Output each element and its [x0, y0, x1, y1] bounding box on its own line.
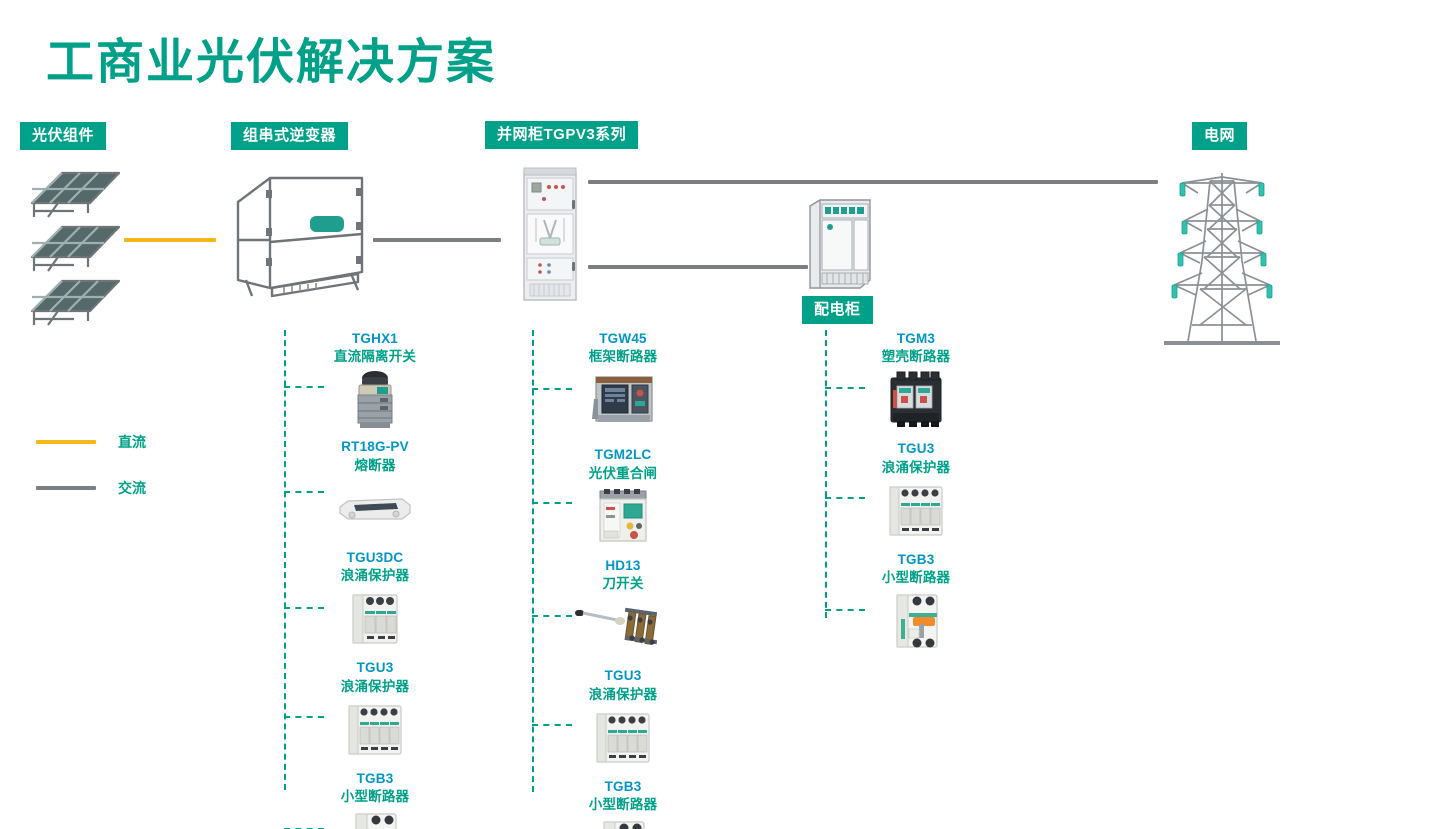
distribution-cabinet-icon — [806, 196, 874, 292]
branch-connector — [825, 387, 865, 389]
badge-pv-modules: 光伏组件 — [20, 122, 106, 150]
dc-isolator-switch-icon — [285, 368, 465, 430]
product-name: 刀开关 — [533, 575, 713, 593]
branch-connector — [284, 491, 324, 493]
surge-protector-dc-icon — [285, 587, 465, 649]
product-name: 熔断器 — [285, 457, 465, 475]
branch-connector — [532, 502, 572, 504]
product-code: TGB3 — [533, 778, 713, 796]
branch-connector — [532, 388, 572, 390]
product-item[interactable]: TGU3 浪涌保护器 — [533, 667, 713, 767]
surge-protector-icon — [533, 706, 713, 768]
product-name: 浪涌保护器 — [533, 686, 713, 704]
product-item[interactable]: TGU3DC 浪涌保护器 — [285, 549, 465, 649]
knife-switch-icon — [533, 595, 713, 657]
product-code: TGW45 — [533, 330, 713, 348]
branch-connector — [825, 609, 865, 611]
branch-connector — [825, 497, 865, 499]
legend-item-ac: 交流 — [36, 478, 146, 498]
legend-swatch-dc — [36, 440, 96, 444]
product-name: 浪涌保护器 — [285, 678, 465, 696]
legend-label-ac: 交流 — [118, 478, 146, 498]
ac-line-inverter-to-grid-cabinet — [373, 238, 501, 242]
product-code: RT18G-PV — [285, 438, 465, 456]
pv-fuse-icon — [285, 477, 465, 539]
product-item[interactable]: TGHX1 直流隔离开关 — [285, 330, 465, 430]
badge-grid-cabinet: 并网柜TGPV3系列 — [485, 121, 638, 149]
branch-connector — [284, 716, 324, 718]
product-code: TGU3 — [285, 659, 465, 677]
surge-protector-icon — [826, 479, 1006, 541]
product-name: 小型断路器 — [826, 569, 1006, 587]
ac-line-grid-cabinet-to-tower — [588, 180, 1158, 184]
pv-recloser-icon — [533, 485, 713, 547]
product-item[interactable]: TGB3 小型断路器 — [533, 778, 713, 829]
ac-line-grid-cabinet-to-distribution — [588, 265, 808, 269]
product-item[interactable]: TGU3 浪涌保护器 — [285, 659, 465, 759]
miniature-circuit-breaker-icon — [533, 816, 713, 829]
product-code: TGB3 — [826, 551, 1006, 569]
product-item[interactable]: RT18G-PV 熔断器 — [285, 438, 465, 538]
product-column-grid-cabinet-side: TGW45 框架断路器 — [523, 330, 703, 829]
branch-connector — [532, 615, 572, 617]
product-code: TGB3 — [285, 770, 465, 788]
product-name: 塑壳断路器 — [826, 348, 1006, 366]
product-name: 浪涌保护器 — [826, 459, 1006, 477]
product-code: TGM2LC — [533, 446, 713, 464]
surge-protector-icon — [285, 698, 465, 760]
product-item[interactable]: TGM2LC 光伏重合闸 — [533, 446, 713, 546]
badge-distribution-cabinet: 配电柜 — [802, 296, 873, 324]
product-name: 直流隔离开关 — [285, 348, 465, 366]
miniature-circuit-breaker-icon — [826, 589, 1006, 651]
product-item[interactable]: HD13 刀开关 — [533, 557, 713, 657]
solar-panel-array-icon — [22, 165, 132, 325]
product-name: 浪涌保护器 — [285, 567, 465, 585]
branch-connector — [284, 607, 324, 609]
product-name: 小型断路器 — [533, 796, 713, 814]
product-code: TGM3 — [826, 330, 1006, 348]
transmission-tower-icon — [1158, 165, 1286, 355]
branch-connector — [532, 724, 572, 726]
product-name: 光伏重合闸 — [533, 465, 713, 483]
product-name: 小型断路器 — [285, 788, 465, 806]
dc-line-pv-to-inverter — [124, 238, 216, 242]
product-item[interactable]: TGU3 浪涌保护器 — [826, 440, 1006, 540]
page-title: 工商业光伏解决方案 — [46, 22, 496, 92]
air-circuit-breaker-icon — [533, 368, 713, 430]
product-code: TGU3DC — [285, 549, 465, 567]
grid-connection-cabinet-icon — [522, 168, 578, 302]
badge-string-inverter: 组串式逆变器 — [231, 122, 348, 150]
string-inverter-icon — [232, 170, 372, 302]
product-code: TGHX1 — [285, 330, 465, 348]
product-code: TGU3 — [826, 440, 1006, 458]
product-item[interactable]: TGB3 小型断路器 — [826, 551, 1006, 651]
badge-power-grid: 电网 — [1192, 122, 1247, 150]
legend-swatch-ac — [36, 486, 96, 490]
product-column-inverter-dc-side: TGHX1 直流隔离开关 RT — [275, 330, 455, 829]
product-code: TGU3 — [533, 667, 713, 685]
product-item[interactable]: TGW45 框架断路器 — [533, 330, 713, 430]
product-code: HD13 — [533, 557, 713, 575]
solution-diagram: 工商业光伏解决方案 光伏组件 组串式逆变器 并网柜TGPV3系列 配电柜 电网 — [0, 0, 1436, 829]
miniature-circuit-breaker-icon — [285, 808, 465, 829]
product-item[interactable]: TGM3 塑壳断路器 — [826, 330, 1006, 430]
legend-item-dc: 直流 — [36, 432, 146, 452]
product-name: 框架断路器 — [533, 348, 713, 366]
branch-connector — [284, 386, 324, 388]
product-item[interactable]: TGB3 小型断路器 — [285, 770, 465, 829]
molded-case-circuit-breaker-icon — [826, 368, 1006, 430]
legend-label-dc: 直流 — [118, 432, 146, 452]
product-column-distribution-cabinet-side: TGM3 塑壳断路器 — [816, 330, 996, 651]
